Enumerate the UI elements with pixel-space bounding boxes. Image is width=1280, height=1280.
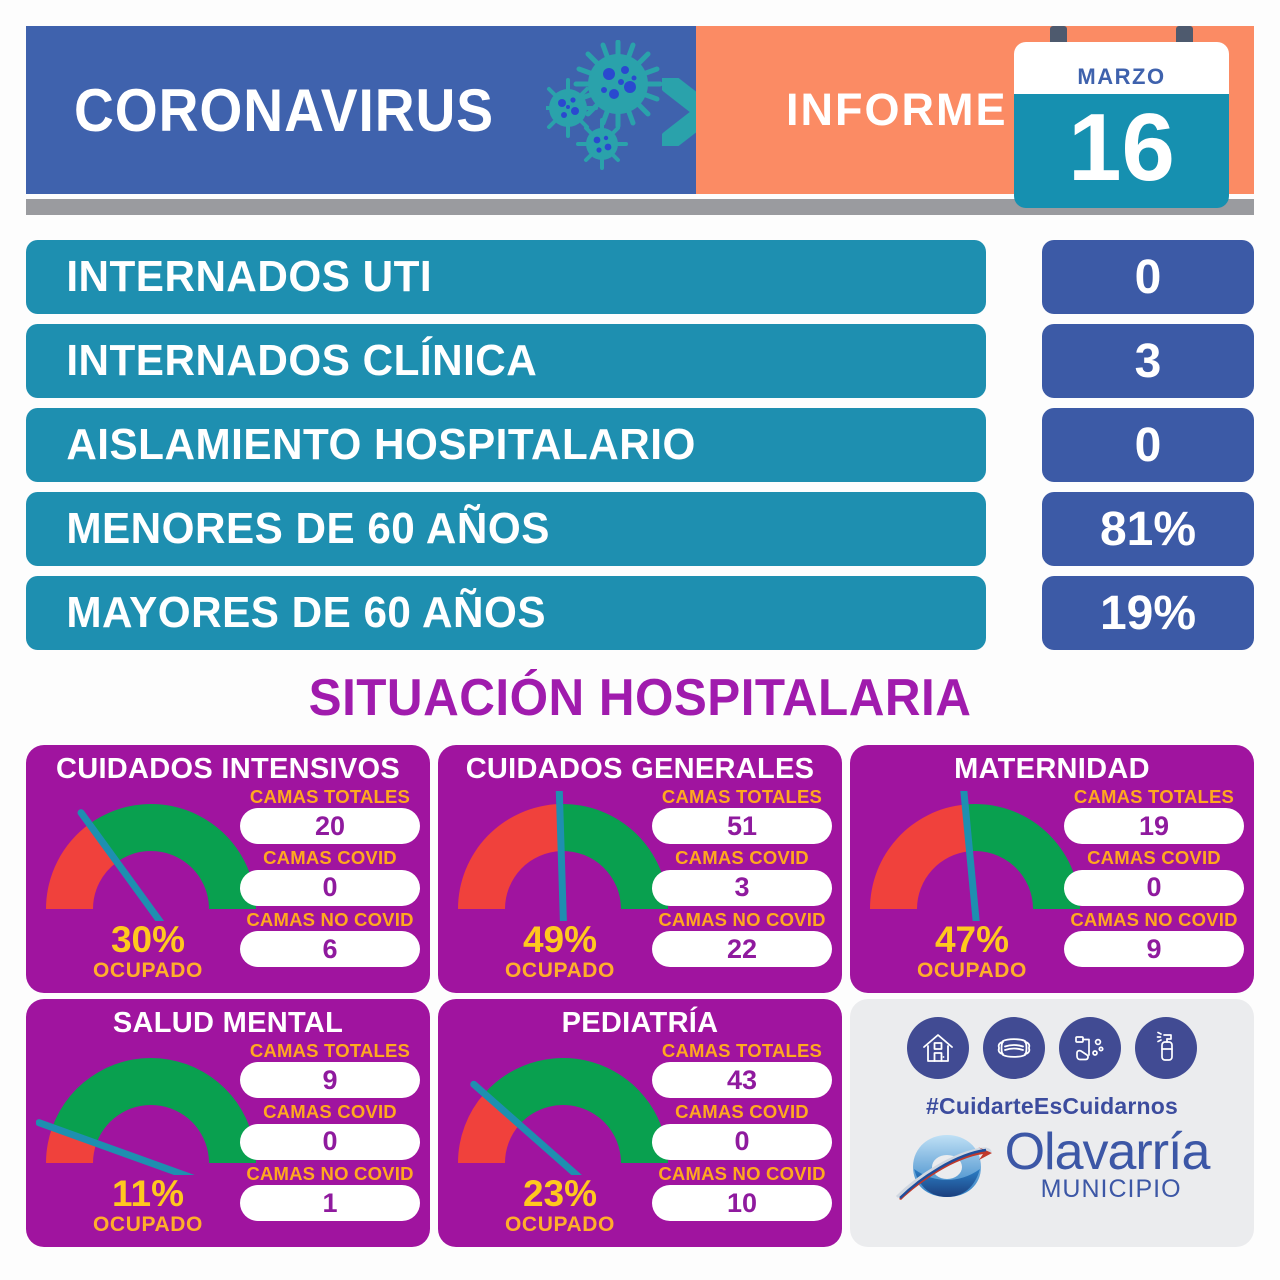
gauge-fields: CAMAS TOTALES 9 CAMAS COVID 0 CAMAS NO C…: [240, 1041, 420, 1225]
calendar-date-badge: MARZO 16: [1014, 26, 1229, 208]
olavarria-logo-mark: [895, 1127, 999, 1205]
prevention-logo-panel: #CuidarteEsCuidarnos: [850, 999, 1254, 1247]
calendar-day: 16: [1068, 107, 1175, 190]
field-value-totales: 20: [240, 808, 420, 844]
double-chevron-right-icon: [662, 78, 696, 146]
house-icon: [907, 1017, 969, 1079]
brand-text: Olavarría MUNICIPIO: [1005, 1128, 1210, 1204]
field-value-covid: 0: [1064, 870, 1244, 906]
gauge-percent-caption: OCUPADO: [444, 1213, 676, 1237]
stat-label: INTERNADOS UTI: [26, 240, 986, 314]
stat-value: 0: [1042, 408, 1254, 482]
field-label-covid: CAMAS COVID: [240, 1102, 420, 1121]
spray-bottle-icon: [1135, 1017, 1197, 1079]
gauge-fields: CAMAS TOTALES 19 CAMAS COVID 0 CAMAS NO …: [1064, 787, 1244, 971]
field-value-no-covid: 9: [1064, 931, 1244, 967]
stat-row: INTERNADOS UTI 0: [26, 240, 1254, 314]
gauge-card: CUIDADOS INTENSIVOS 30% OCUPADO CAMAS TO…: [26, 745, 430, 993]
gauge-percent: 11%: [32, 1175, 264, 1212]
field-label-covid: CAMAS COVID: [1064, 848, 1244, 867]
gauge-percent-caption: OCUPADO: [444, 959, 676, 983]
gauge-dial: [448, 791, 678, 921]
field-label-totales: CAMAS TOTALES: [652, 787, 832, 806]
stat-value: 81%: [1042, 492, 1254, 566]
field-value-no-covid: 6: [240, 931, 420, 967]
gauge-percent: 47%: [856, 921, 1088, 958]
gauge-percent: 30%: [32, 921, 264, 958]
stat-label: MENORES DE 60 AÑOS: [26, 492, 986, 566]
field-value-no-covid: 10: [652, 1185, 832, 1221]
field-value-totales: 19: [1064, 808, 1244, 844]
gauge-percent-caption: OCUPADO: [856, 959, 1088, 983]
handwash-icon: [1059, 1017, 1121, 1079]
calendar-month: MARZO: [1077, 64, 1165, 94]
stats-list: INTERNADOS UTI 0 INTERNADOS CLÍNICA 3 AI…: [26, 240, 1254, 660]
campaign-hashtag: #CuidarteEsCuidarnos: [850, 1093, 1254, 1120]
gauge-dial: [36, 1045, 266, 1175]
gauge-card: MATERNIDAD 47% OCUPADO CAMAS TOTALES 19 …: [850, 745, 1254, 993]
page-title: CORONAVIRUS: [74, 76, 494, 145]
brand-subtitle: MUNICIPIO: [1041, 1175, 1182, 1204]
prevention-icons-row: [850, 1017, 1254, 1079]
header-left-blue: CORONAVIRUS: [26, 26, 696, 194]
gauge-dial: [36, 791, 266, 921]
field-label-no-covid: CAMAS NO COVID: [652, 1164, 832, 1183]
gauge-card-title: MATERNIDAD: [850, 753, 1254, 786]
stat-value: 3: [1042, 324, 1254, 398]
gauge-card-title: PEDIATRÍA: [438, 1007, 842, 1040]
stat-row: MENORES DE 60 AÑOS 81%: [26, 492, 1254, 566]
field-label-covid: CAMAS COVID: [240, 848, 420, 867]
gauge-card: CUIDADOS GENERALES 49% OCUPADO CAMAS TOT…: [438, 745, 842, 993]
stat-value: 0: [1042, 240, 1254, 314]
stat-label: MAYORES DE 60 AÑOS: [26, 576, 986, 650]
field-value-covid: 0: [240, 870, 420, 906]
calendar-header: MARZO: [1014, 42, 1229, 94]
stat-label: AISLAMIENTO HOSPITALARIO: [26, 408, 986, 482]
calendar-body: 16: [1014, 94, 1229, 208]
field-value-totales: 9: [240, 1062, 420, 1098]
gauge-card: PEDIATRÍA 23% OCUPADO CAMAS TOTALES 43 C…: [438, 999, 842, 1247]
gauge-dial: [860, 791, 1090, 921]
field-label-totales: CAMAS TOTALES: [240, 1041, 420, 1060]
field-label-no-covid: CAMAS NO COVID: [1064, 910, 1244, 929]
gauge-fields: CAMAS TOTALES 20 CAMAS COVID 0 CAMAS NO …: [240, 787, 420, 971]
gauge-fields: CAMAS TOTALES 43 CAMAS COVID 0 CAMAS NO …: [652, 1041, 832, 1225]
stat-row: AISLAMIENTO HOSPITALARIO 0: [26, 408, 1254, 482]
field-value-covid: 0: [652, 1124, 832, 1160]
gauge-percent-caption: OCUPADO: [32, 959, 264, 983]
field-label-no-covid: CAMAS NO COVID: [240, 910, 420, 929]
field-label-no-covid: CAMAS NO COVID: [652, 910, 832, 929]
field-label-totales: CAMAS TOTALES: [240, 787, 420, 806]
gauge-percent: 49%: [444, 921, 676, 958]
field-label-totales: CAMAS TOTALES: [1064, 787, 1244, 806]
gauge-dial: [448, 1045, 678, 1175]
stat-row: MAYORES DE 60 AÑOS 19%: [26, 576, 1254, 650]
field-value-totales: 51: [652, 808, 832, 844]
field-value-no-covid: 1: [240, 1185, 420, 1221]
field-label-covid: CAMAS COVID: [652, 848, 832, 867]
stat-value: 19%: [1042, 576, 1254, 650]
field-value-covid: 0: [240, 1124, 420, 1160]
section-title: SITUACIÓN HOSPITALARIA: [32, 668, 1248, 728]
stat-label: INTERNADOS CLÍNICA: [26, 324, 986, 398]
gauge-card: SALUD MENTAL 11% OCUPADO CAMAS TOTALES 9…: [26, 999, 430, 1247]
gauge-card-title: SALUD MENTAL: [26, 1007, 430, 1040]
gauge-card-title: CUIDADOS INTENSIVOS: [26, 753, 430, 786]
gauge-fields: CAMAS TOTALES 51 CAMAS COVID 3 CAMAS NO …: [652, 787, 832, 971]
field-label-no-covid: CAMAS NO COVID: [240, 1164, 420, 1183]
gauge-percent: 23%: [444, 1175, 676, 1212]
gauge-percent-caption: OCUPADO: [32, 1213, 264, 1237]
field-value-covid: 3: [652, 870, 832, 906]
brand-name: Olavarría: [1005, 1128, 1210, 1177]
field-label-covid: CAMAS COVID: [652, 1102, 832, 1121]
report-label: INFORME: [786, 84, 1008, 136]
field-value-no-covid: 22: [652, 931, 832, 967]
field-label-totales: CAMAS TOTALES: [652, 1041, 832, 1060]
brand-logo: Olavarría MUNICIPIO: [850, 1127, 1254, 1205]
face-mask-icon: [983, 1017, 1045, 1079]
gauge-card-title: CUIDADOS GENERALES: [438, 753, 842, 786]
infographic-page: CORONAVIRUS: [0, 0, 1280, 1280]
field-value-totales: 43: [652, 1062, 832, 1098]
stat-row: INTERNADOS CLÍNICA 3: [26, 324, 1254, 398]
gauge-cards-grid: CUIDADOS INTENSIVOS 30% OCUPADO CAMAS TO…: [26, 745, 1254, 1247]
